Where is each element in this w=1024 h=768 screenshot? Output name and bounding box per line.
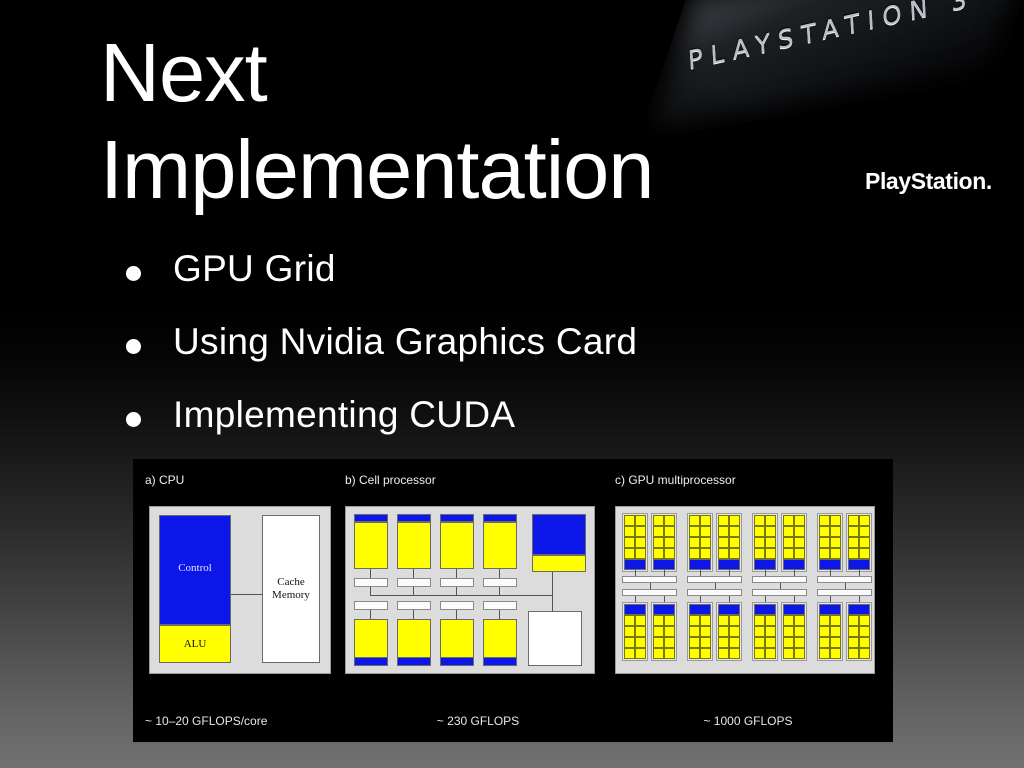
cell-wire — [370, 610, 371, 619]
cell-bus-segment — [440, 601, 474, 610]
cell-spe-top-alu — [483, 522, 517, 569]
gpu-alu-cell — [794, 637, 805, 648]
bullet-dot-icon — [126, 412, 141, 427]
gpu-alu-cell — [718, 537, 729, 548]
cpu-bus-wire — [231, 594, 262, 595]
gpu-control-bar — [624, 604, 646, 615]
gpu-alu-cell — [783, 637, 794, 648]
gpu-alu-cell — [794, 648, 805, 659]
cell-bus-segment — [483, 601, 517, 610]
gpu-alu-cell — [859, 537, 870, 548]
gpu-control-bar — [689, 559, 711, 570]
gpu-alu-cell — [635, 615, 646, 626]
cell-wire — [499, 610, 500, 619]
gpu-alu-cell — [794, 515, 805, 526]
gpu-control-bar — [819, 604, 841, 615]
cpu-cache-block: Cache Memory — [262, 515, 320, 663]
gpu-wire — [845, 583, 846, 589]
figure-panel-gpu: c) GPU multiprocessor ~ 1000 GFLOPS — [603, 459, 893, 742]
cell-bus-segment — [440, 578, 474, 587]
bullet-list: GPU Grid Using Nvidia Graphics Card Impl… — [126, 246, 906, 465]
gpu-alu-cell — [689, 648, 700, 659]
panel-title-cpu: a) CPU — [145, 473, 184, 487]
panel-caption-gpu: ~ 1000 GFLOPS — [603, 714, 893, 728]
gpu-alu-cell — [830, 515, 841, 526]
title-line-2: Implementation — [100, 121, 720, 218]
title-line-1: Next — [100, 24, 720, 121]
gpu-alu-cell — [718, 515, 729, 526]
gpu-alu-cell — [729, 626, 740, 637]
gpu-wire — [859, 596, 860, 602]
gpu-alu-cell — [729, 637, 740, 648]
gpu-alu-cell — [794, 537, 805, 548]
cell-bus-segment — [397, 601, 431, 610]
gpu-bus-segment — [622, 589, 677, 596]
gpu-alu-cell — [859, 637, 870, 648]
slide: PLAYSTATION 3 PlayStation. Next Implemen… — [0, 0, 1024, 768]
gpu-alu-cell — [718, 637, 729, 648]
gpu-alu-cell — [830, 548, 841, 559]
gpu-wire — [794, 596, 795, 602]
bullet-label: Implementing CUDA — [173, 392, 515, 438]
list-item: Implementing CUDA — [126, 392, 906, 465]
cell-bus-segment — [354, 601, 388, 610]
gpu-alu-cell — [729, 548, 740, 559]
gpu-alu-cell — [848, 626, 859, 637]
gpu-bus-segment — [622, 576, 677, 583]
gpu-alu-cell — [848, 648, 859, 659]
gpu-alu-cell — [819, 515, 830, 526]
gpu-alu-cell — [700, 637, 711, 648]
gpu-alu-cell — [783, 537, 794, 548]
gpu-wire — [650, 583, 651, 589]
gpu-alu-cell — [729, 648, 740, 659]
cell-wire — [370, 569, 371, 578]
cell-spe-top-alu — [397, 522, 431, 569]
gpu-alu-cell — [783, 515, 794, 526]
cell-spe-bot-ctrl — [354, 657, 388, 666]
gpu-alu-cell — [859, 626, 870, 637]
gpu-alu-cell — [754, 526, 765, 537]
gpu-control-bar — [689, 604, 711, 615]
gpu-alu-cell — [689, 526, 700, 537]
gpu-alu-cell — [689, 637, 700, 648]
cell-die — [345, 506, 595, 674]
gpu-alu-cell — [830, 637, 841, 648]
cell-wire — [456, 569, 457, 578]
gpu-alu-cell — [664, 537, 675, 548]
gpu-alu-cell — [754, 548, 765, 559]
gpu-wire — [780, 583, 781, 589]
cell-spe-bot-ctrl — [483, 657, 517, 666]
page-title: Next Implementation — [100, 24, 720, 218]
gpu-control-bar — [624, 559, 646, 570]
gpu-alu-cell — [718, 615, 729, 626]
gpu-alu-cell — [624, 648, 635, 659]
gpu-bus-segment — [687, 576, 742, 583]
gpu-wire — [635, 596, 636, 602]
gpu-alu-cell — [859, 615, 870, 626]
gpu-alu-cell — [664, 615, 675, 626]
gpu-alu-cell — [624, 637, 635, 648]
gpu-alu-cell — [653, 537, 664, 548]
cpu-alu-label: ALU — [160, 638, 230, 651]
gpu-alu-cell — [624, 548, 635, 559]
cpu-control-label: Control — [160, 562, 230, 575]
cell-wire — [413, 610, 414, 619]
panel-caption-cell: ~ 230 GFLOPS — [333, 714, 623, 728]
gpu-alu-cell — [700, 515, 711, 526]
cell-wire — [499, 587, 500, 596]
gpu-control-bar — [783, 559, 805, 570]
gpu-alu-cell — [848, 637, 859, 648]
panel-caption-cpu: ~ 10–20 GFLOPS/core — [145, 714, 267, 728]
cell-spe-top-ctrl — [483, 514, 517, 522]
gpu-alu-cell — [819, 626, 830, 637]
gpu-alu-cell — [765, 515, 776, 526]
gpu-control-bar — [653, 559, 675, 570]
cpu-control-block: Control — [159, 515, 231, 625]
gpu-alu-cell — [859, 526, 870, 537]
gpu-control-bar — [653, 604, 675, 615]
gpu-alu-cell — [783, 548, 794, 559]
gpu-alu-cell — [848, 526, 859, 537]
gpu-alu-cell — [794, 615, 805, 626]
gpu-alu-cell — [765, 537, 776, 548]
cell-bus-segment — [483, 578, 517, 587]
gpu-alu-cell — [689, 626, 700, 637]
gpu-alu-cell — [794, 548, 805, 559]
gpu-alu-cell — [830, 626, 841, 637]
cell-wire — [499, 569, 500, 578]
cell-interconnect — [370, 595, 552, 596]
architecture-figure: a) CPU Control ALU Cache Memory ~ 10–20 … — [133, 459, 893, 742]
gpu-alu-cell — [765, 615, 776, 626]
gpu-alu-cell — [783, 648, 794, 659]
playstation-wordmark: PlayStation. — [865, 168, 992, 195]
gpu-alu-cell — [830, 526, 841, 537]
cell-spe-bot-alu — [483, 619, 517, 659]
gpu-alu-cell — [794, 626, 805, 637]
gpu-alu-cell — [635, 515, 646, 526]
gpu-alu-cell — [783, 615, 794, 626]
gpu-alu-cell — [635, 637, 646, 648]
gpu-alu-cell — [819, 637, 830, 648]
gpu-alu-cell — [624, 626, 635, 637]
gpu-alu-cell — [830, 537, 841, 548]
gpu-control-bar — [718, 604, 740, 615]
gpu-alu-cell — [859, 648, 870, 659]
cell-bus-segment — [397, 578, 431, 587]
gpu-alu-cell — [635, 648, 646, 659]
gpu-alu-cell — [700, 648, 711, 659]
gpu-alu-cell — [624, 615, 635, 626]
figure-panel-cell: b) Cell processor — [333, 459, 623, 742]
panel-title-cell: b) Cell processor — [345, 473, 436, 487]
gpu-alu-cell — [729, 615, 740, 626]
gpu-die — [615, 506, 875, 674]
gpu-alu-cell — [624, 526, 635, 537]
gpu-alu-cell — [689, 548, 700, 559]
gpu-alu-cell — [718, 548, 729, 559]
gpu-alu-cell — [765, 637, 776, 648]
gpu-alu-cell — [700, 526, 711, 537]
gpu-wire — [765, 596, 766, 602]
gpu-alu-cell — [729, 537, 740, 548]
gpu-wire — [715, 583, 716, 589]
gpu-control-bar — [718, 559, 740, 570]
gpu-alu-cell — [783, 626, 794, 637]
gpu-alu-cell — [635, 537, 646, 548]
cell-spe-top-ctrl — [397, 514, 431, 522]
gpu-alu-cell — [718, 626, 729, 637]
gpu-alu-cell — [653, 637, 664, 648]
list-item: GPU Grid — [126, 246, 906, 319]
gpu-bus-segment — [817, 576, 872, 583]
gpu-alu-cell — [635, 548, 646, 559]
gpu-alu-cell — [689, 515, 700, 526]
cell-bus-segment — [354, 578, 388, 587]
gpu-alu-cell — [635, 626, 646, 637]
cell-wire — [456, 610, 457, 619]
gpu-alu-cell — [700, 537, 711, 548]
gpu-alu-cell — [848, 615, 859, 626]
gpu-alu-cell — [700, 548, 711, 559]
gpu-wire — [830, 596, 831, 602]
gpu-alu-cell — [653, 515, 664, 526]
gpu-alu-cell — [653, 626, 664, 637]
bullet-label: Using Nvidia Graphics Card — [173, 319, 637, 365]
cell-spe-bot-alu — [440, 619, 474, 659]
gpu-alu-cell — [783, 526, 794, 537]
panel-title-gpu: c) GPU multiprocessor — [615, 473, 736, 487]
cell-ppe-control — [532, 514, 586, 555]
cell-spe-top-ctrl — [440, 514, 474, 522]
gpu-alu-cell — [729, 515, 740, 526]
gpu-alu-cell — [819, 537, 830, 548]
gpu-alu-cell — [859, 515, 870, 526]
gpu-alu-cell — [653, 548, 664, 559]
gpu-alu-cell — [819, 615, 830, 626]
gpu-alu-cell — [664, 637, 675, 648]
gpu-alu-cell — [653, 615, 664, 626]
gpu-alu-cell — [819, 648, 830, 659]
gpu-alu-cell — [635, 526, 646, 537]
cell-spe-top-alu — [354, 522, 388, 569]
list-item: Using Nvidia Graphics Card — [126, 319, 906, 392]
gpu-wire — [664, 596, 665, 602]
bullet-dot-icon — [126, 266, 141, 281]
gpu-alu-cell — [689, 615, 700, 626]
cell-wire — [413, 587, 414, 596]
gpu-alu-cell — [754, 648, 765, 659]
gpu-alu-cell — [794, 526, 805, 537]
gpu-alu-cell — [700, 626, 711, 637]
cpu-alu-block: ALU — [159, 625, 231, 663]
gpu-alu-cell — [653, 526, 664, 537]
gpu-alu-cell — [830, 648, 841, 659]
gpu-alu-cell — [664, 648, 675, 659]
bullet-dot-icon — [126, 339, 141, 354]
gpu-alu-cell — [664, 526, 675, 537]
gpu-alu-cell — [624, 515, 635, 526]
cpu-cache-label: Cache Memory — [263, 576, 319, 602]
cell-spe-top-alu — [440, 522, 474, 569]
gpu-alu-cell — [664, 515, 675, 526]
cell-spe-bot-alu — [354, 619, 388, 659]
gpu-alu-cell — [664, 626, 675, 637]
gpu-bus-segment — [752, 589, 807, 596]
gpu-alu-cell — [700, 615, 711, 626]
gpu-alu-cell — [718, 648, 729, 659]
bullet-label: GPU Grid — [173, 246, 336, 292]
gpu-alu-cell — [754, 626, 765, 637]
gpu-alu-cell — [819, 526, 830, 537]
gpu-alu-cell — [754, 637, 765, 648]
gpu-alu-cell — [765, 626, 776, 637]
gpu-alu-cell — [765, 526, 776, 537]
gpu-alu-cell — [664, 548, 675, 559]
cell-spe-top-ctrl — [354, 514, 388, 522]
cell-ppe-alu — [532, 555, 586, 572]
gpu-bus-segment — [817, 589, 872, 596]
gpu-alu-cell — [859, 548, 870, 559]
cell-wire — [456, 587, 457, 596]
gpu-alu-cell — [848, 515, 859, 526]
gpu-control-bar — [754, 604, 776, 615]
gpu-bus-segment — [687, 589, 742, 596]
gpu-alu-cell — [689, 537, 700, 548]
gpu-control-bar — [819, 559, 841, 570]
gpu-control-bar — [754, 559, 776, 570]
cell-spe-bot-alu — [397, 619, 431, 659]
cell-memory-block — [528, 611, 582, 666]
gpu-alu-cell — [624, 537, 635, 548]
gpu-alu-cell — [754, 515, 765, 526]
gpu-alu-cell — [653, 648, 664, 659]
gpu-wire — [729, 596, 730, 602]
gpu-alu-cell — [819, 548, 830, 559]
gpu-control-bar — [848, 559, 870, 570]
gpu-alu-cell — [848, 548, 859, 559]
gpu-bus-segment — [752, 576, 807, 583]
cell-spe-bot-ctrl — [440, 657, 474, 666]
gpu-control-bar — [783, 604, 805, 615]
gpu-alu-cell — [754, 537, 765, 548]
gpu-alu-cell — [718, 526, 729, 537]
gpu-alu-cell — [830, 615, 841, 626]
gpu-alu-cell — [848, 537, 859, 548]
cell-spe-bot-ctrl — [397, 657, 431, 666]
gpu-alu-cell — [765, 648, 776, 659]
gpu-alu-cell — [729, 526, 740, 537]
gpu-alu-cell — [765, 548, 776, 559]
cpu-die: Control ALU Cache Memory — [149, 506, 331, 674]
gpu-control-bar — [848, 604, 870, 615]
cell-wire — [413, 569, 414, 578]
gpu-wire — [700, 596, 701, 602]
gpu-alu-cell — [754, 615, 765, 626]
